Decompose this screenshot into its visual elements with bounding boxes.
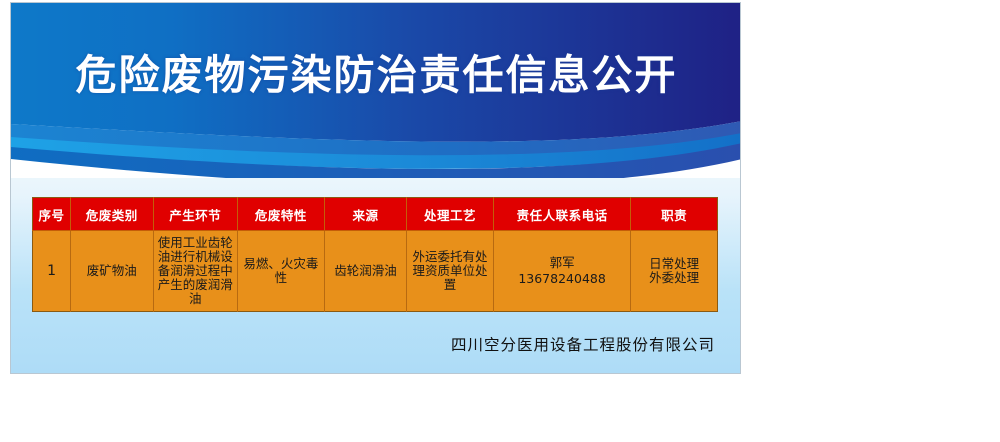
cell-stage: 使用工业齿轮油进行机械设备润滑过程中产生的废润滑油: [153, 231, 238, 312]
hazardous-waste-table: 序号 危废类别 产生环节 危废特性 来源 处理工艺 责任人联系电话 职责 1 废…: [32, 197, 718, 312]
poster-header-band: 危险废物污染防治责任信息公开: [11, 3, 741, 178]
cell-process: 外运委托有处理资质单位处置: [407, 231, 494, 312]
information-disclosure-poster: 危险废物污染防治责任信息公开 序号 危废类别 产生环节 危废特性 来源 处理工艺…: [10, 2, 741, 374]
cell-hazard: 易燃、火灾毒性: [238, 231, 325, 312]
table-row: 1 废矿物油 使用工业齿轮油进行机械设备润滑过程中产生的废润滑油 易燃、火灾毒性…: [33, 231, 718, 312]
table-header-row: 序号 危废类别 产生环节 危废特性 来源 处理工艺 责任人联系电话 职责: [33, 198, 718, 231]
cell-duty: 日常处理 外委处理: [631, 231, 718, 312]
column-header-stage: 产生环节: [153, 198, 238, 231]
column-header-category: 危废类别: [71, 198, 153, 231]
column-header-duty: 职责: [631, 198, 718, 231]
cell-seq: 1: [33, 231, 71, 312]
column-header-contact: 责任人联系电话: [493, 198, 630, 231]
column-header-seq: 序号: [33, 198, 71, 231]
cell-contact: 郭军 13678240488: [493, 231, 630, 312]
column-header-source: 来源: [324, 198, 406, 231]
cell-source: 齿轮润滑油: [324, 231, 406, 312]
column-header-hazard: 危废特性: [238, 198, 325, 231]
column-header-process: 处理工艺: [407, 198, 494, 231]
cell-category: 废矿物油: [71, 231, 153, 312]
page-title: 危险废物污染防治责任信息公开: [11, 50, 741, 100]
company-name: 四川空分医用设备工程股份有限公司: [451, 333, 715, 355]
